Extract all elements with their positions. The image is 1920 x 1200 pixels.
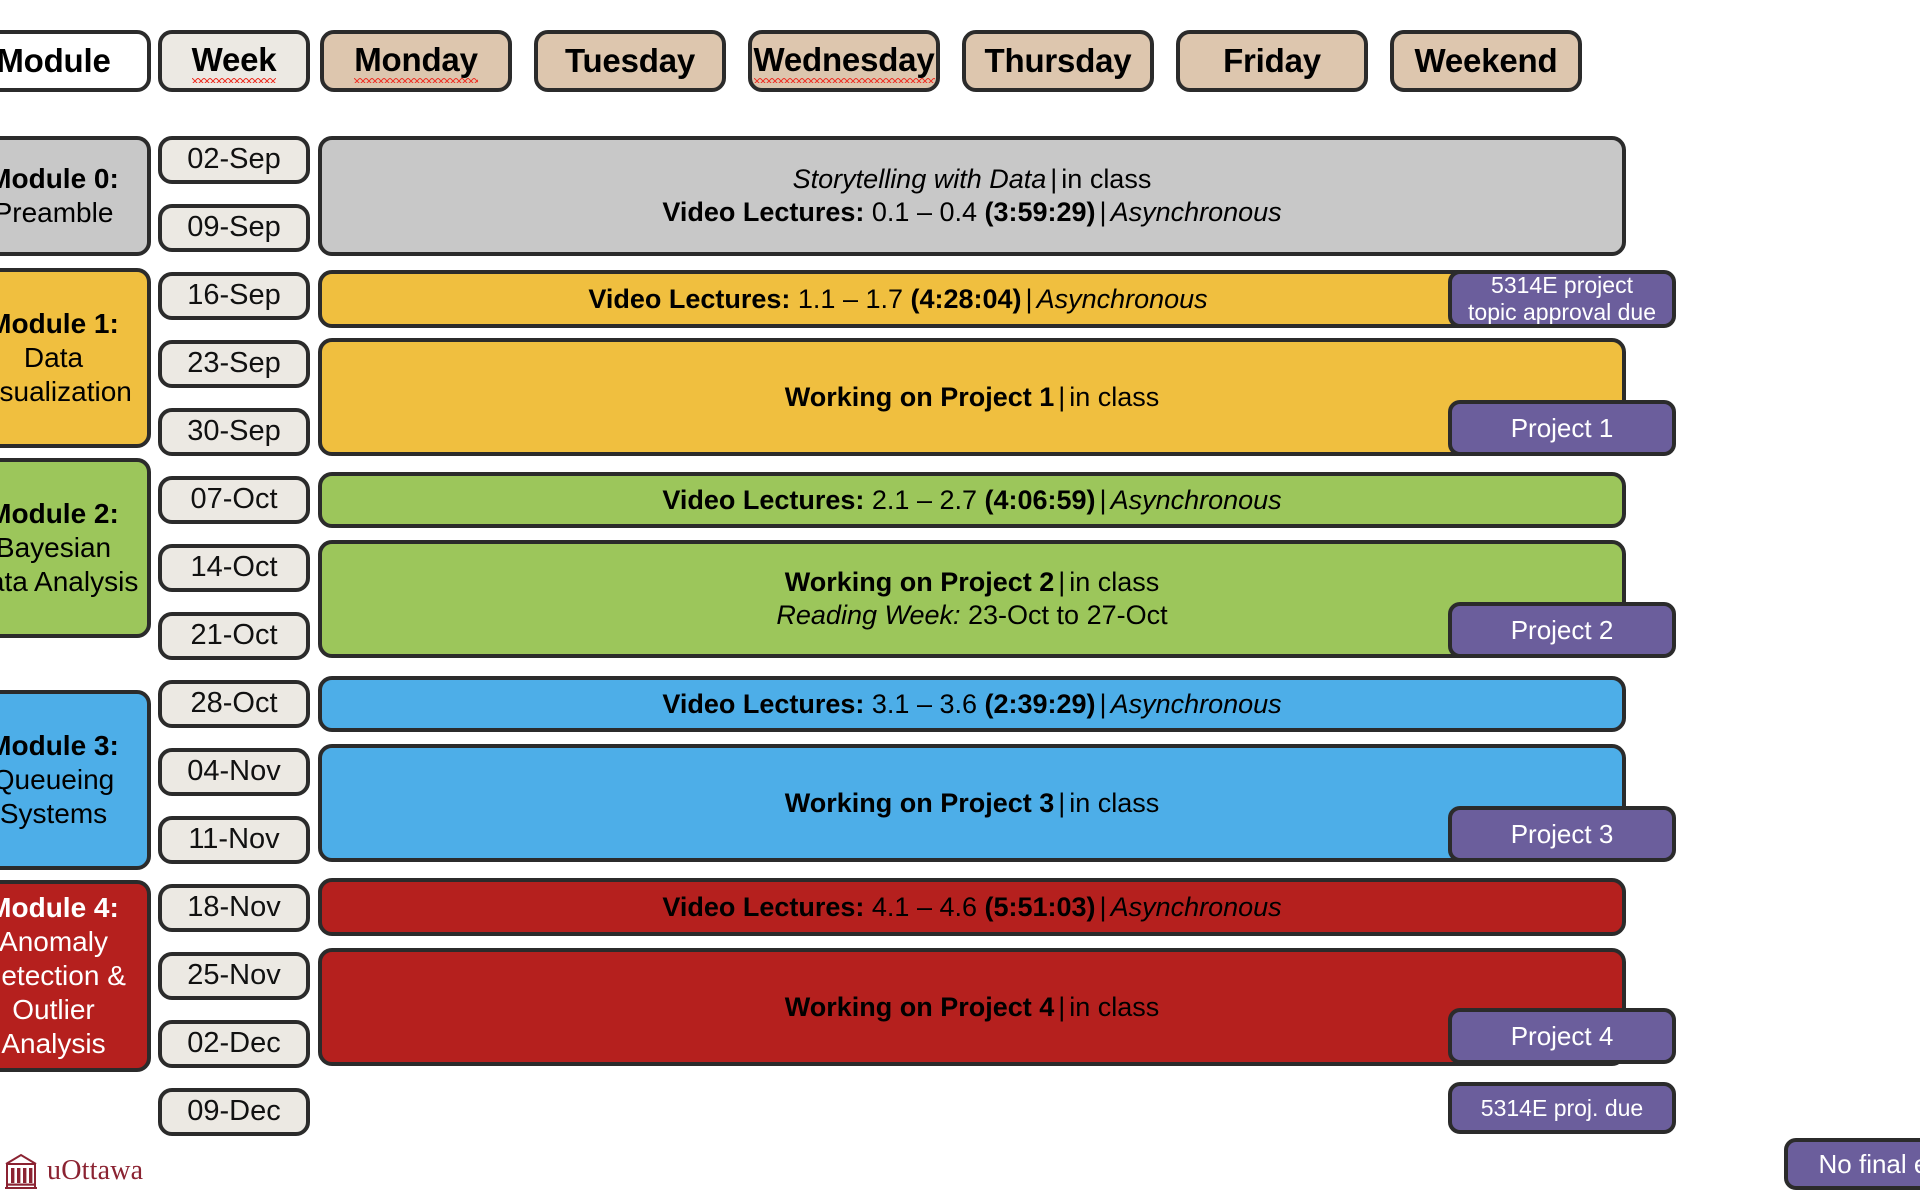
- module-name-line: Bayesian: [0, 531, 111, 565]
- deliverable-badge-project-1[interactable]: Project 1: [1448, 400, 1676, 456]
- activity-text-segment: in class: [1061, 164, 1151, 194]
- activity-text-segment: in class: [1069, 992, 1159, 1022]
- column-header-label: Week: [192, 40, 277, 82]
- activity-line: Working on Project 4|in class: [785, 991, 1160, 1024]
- week-label: 11-Nov: [188, 822, 279, 857]
- module-name-line: Data Analysis: [0, 565, 138, 599]
- week-label: 09-Sep: [187, 210, 281, 245]
- week-cell-25-nov[interactable]: 25-Nov: [158, 952, 310, 1000]
- week-label: 28-Oct: [190, 686, 277, 721]
- deliverable-label: 5314E proj. due: [1481, 1095, 1643, 1122]
- column-header-monday: Monday: [320, 30, 512, 92]
- activity-text-segment: |: [1054, 567, 1069, 597]
- deliverable-label: Project 3: [1511, 819, 1614, 849]
- week-label: 14-Oct: [190, 550, 277, 585]
- module-title: Module 0:: [0, 162, 119, 196]
- activity-bar-m1-project[interactable]: Working on Project 1|in class: [318, 338, 1626, 456]
- activity-text-segment: Reading Week:: [776, 600, 960, 630]
- week-cell-14-oct[interactable]: 14-Oct: [158, 544, 310, 592]
- activity-line: Working on Project 1|in class: [785, 381, 1160, 414]
- activity-text-segment: Video Lectures:: [662, 892, 864, 922]
- activity-text-segment: |: [1054, 382, 1069, 412]
- activity-text-segment: |: [1022, 284, 1037, 314]
- activity-line: Working on Project 2|in class: [785, 566, 1160, 599]
- activity-text-segment: in class: [1069, 567, 1159, 597]
- activity-bar-m0-block[interactable]: Storytelling with Data|in classVideo Lec…: [318, 136, 1626, 256]
- activity-line: Video Lectures: 3.1 – 3.6 (2:39:29)|Asyn…: [662, 688, 1281, 721]
- activity-bar-m4-project[interactable]: Working on Project 4|in class: [318, 948, 1626, 1066]
- activity-text-segment: |: [1096, 892, 1111, 922]
- module-cell-4: Module 4:AnomalyDetection &OutlierAnalys…: [0, 880, 151, 1072]
- week-cell-04-nov[interactable]: 04-Nov: [158, 748, 310, 796]
- activity-text-segment: (4:06:59): [985, 485, 1096, 515]
- module-title: Module 1:: [0, 307, 119, 341]
- module-cell-2: Module 2:BayesianData Analysis: [0, 458, 151, 638]
- module-name-line: Systems: [0, 797, 107, 831]
- deliverable-badge-project-4[interactable]: Project 4: [1448, 1008, 1676, 1064]
- deliverable-label: No final exam: [1819, 1149, 1920, 1179]
- week-label: 02-Dec: [187, 1026, 281, 1061]
- module-cell-0: Module 0:Preamble: [0, 136, 151, 256]
- deliverable-badge-project-2[interactable]: Project 2: [1448, 602, 1676, 658]
- activity-text-segment: |: [1096, 689, 1111, 719]
- activity-line: Storytelling with Data|in class: [793, 163, 1152, 196]
- activity-text-segment: |: [1096, 485, 1111, 515]
- deliverable-badge-topic-approval[interactable]: 5314E projecttopic approval due: [1448, 270, 1676, 328]
- activity-line: Video Lectures: 2.1 – 2.7 (4:06:59)|Asyn…: [662, 484, 1281, 517]
- column-header-thursday: Thursday: [962, 30, 1154, 92]
- activity-text-segment: Asynchronous: [1037, 284, 1208, 314]
- module-cell-3: Module 3:QueueingSystems: [0, 690, 151, 870]
- activity-text-segment: Video Lectures:: [662, 485, 864, 515]
- activity-text-segment: 1.1 – 1.7: [790, 284, 910, 314]
- week-cell-16-sep[interactable]: 16-Sep: [158, 272, 310, 320]
- week-cell-23-sep[interactable]: 23-Sep: [158, 340, 310, 388]
- deliverable-badge-no-final-exam[interactable]: No final exam: [1784, 1138, 1920, 1190]
- module-name-line: Anomaly: [0, 925, 108, 959]
- deliverable-label: Project 4: [1511, 1021, 1614, 1051]
- module-title: Module 4:: [0, 891, 119, 925]
- deliverable-badge-project-3[interactable]: Project 3: [1448, 806, 1676, 862]
- activity-text-segment: Video Lectures:: [662, 689, 864, 719]
- activity-text-segment: Working on Project 2: [785, 567, 1055, 597]
- week-cell-18-nov[interactable]: 18-Nov: [158, 884, 310, 932]
- column-header-label: Wednesday: [754, 40, 935, 82]
- uottawa-logo-text: uOttawa: [47, 1155, 143, 1187]
- schedule-page: ModuleWeekMondayTuesdayWednesdayThursday…: [0, 0, 1920, 1200]
- activity-text-segment: Asynchronous: [1111, 892, 1282, 922]
- week-label: 18-Nov: [187, 890, 281, 925]
- week-label: 25-Nov: [187, 958, 281, 993]
- module-title: Module 3:: [0, 729, 119, 763]
- deliverable-badge-proj-due[interactable]: 5314E proj. due: [1448, 1082, 1676, 1134]
- activity-text-segment: Video Lectures:: [588, 284, 790, 314]
- week-cell-09-sep[interactable]: 09-Sep: [158, 204, 310, 252]
- activity-text-segment: 23-Oct to 27-Oct: [961, 600, 1168, 630]
- week-cell-21-oct[interactable]: 21-Oct: [158, 612, 310, 660]
- column-header-module: Module: [0, 30, 151, 92]
- activity-bar-m2-project[interactable]: Working on Project 2|in classReading Wee…: [318, 540, 1626, 658]
- activity-bar-m2-lectures[interactable]: Video Lectures: 2.1 – 2.7 (4:06:59)|Asyn…: [318, 472, 1626, 528]
- activity-line: Video Lectures: 4.1 – 4.6 (5:51:03)|Asyn…: [662, 891, 1281, 924]
- column-header-week: Week: [158, 30, 310, 92]
- week-cell-30-sep[interactable]: 30-Sep: [158, 408, 310, 456]
- deliverable-label: Project 2: [1511, 615, 1614, 645]
- module-title: Module 2:: [0, 497, 119, 531]
- week-label: 30-Sep: [187, 414, 281, 449]
- activity-bar-m3-project[interactable]: Working on Project 3|in class: [318, 744, 1626, 862]
- week-cell-09-dec[interactable]: 09-Dec: [158, 1088, 310, 1136]
- week-cell-02-sep[interactable]: 02-Sep: [158, 136, 310, 184]
- activity-text-segment: |: [1054, 788, 1069, 818]
- activity-bar-m3-lectures[interactable]: Video Lectures: 3.1 – 3.6 (2:39:29)|Asyn…: [318, 676, 1626, 732]
- column-header-label: Monday: [354, 40, 477, 82]
- activity-bar-m4-lectures[interactable]: Video Lectures: 4.1 – 4.6 (5:51:03)|Asyn…: [318, 878, 1626, 936]
- activity-text-segment: (2:39:29): [985, 689, 1096, 719]
- uottawa-logo: uOttawa: [4, 1152, 143, 1190]
- column-header-tuesday: Tuesday: [534, 30, 726, 92]
- activity-text-segment: 2.1 – 2.7: [864, 485, 984, 515]
- column-header-label: Module: [0, 41, 111, 81]
- activity-text-segment: Asynchronous: [1111, 485, 1282, 515]
- column-header-label: Weekend: [1415, 41, 1558, 81]
- activity-line: Reading Week: 23-Oct to 27-Oct: [776, 599, 1167, 632]
- week-label: 23-Sep: [187, 346, 281, 381]
- activity-bar-m1-lectures[interactable]: Video Lectures: 1.1 – 1.7 (4:28:04)|Asyn…: [318, 270, 1478, 328]
- module-name-line: Queueing: [0, 763, 114, 797]
- activity-text-segment: Storytelling with Data: [793, 164, 1047, 194]
- week-label: 09-Dec: [187, 1094, 281, 1129]
- column-header-label: Tuesday: [565, 41, 695, 81]
- column-header-label: Thursday: [985, 41, 1132, 81]
- activity-text-segment: 3.1 – 3.6: [864, 689, 984, 719]
- module-name-line: Detection &: [0, 959, 126, 993]
- activity-text-segment: in class: [1069, 382, 1159, 412]
- week-label: 07-Oct: [190, 482, 277, 517]
- activity-text-segment: 0.1 – 0.4: [864, 197, 984, 227]
- activity-text-segment: in class: [1069, 788, 1159, 818]
- activity-line: Video Lectures: 1.1 – 1.7 (4:28:04)|Asyn…: [588, 283, 1207, 316]
- university-building-icon: [4, 1152, 38, 1190]
- module-cell-1: Module 1:DataVisualization: [0, 268, 151, 448]
- activity-text-segment: (3:59:29): [985, 197, 1096, 227]
- activity-text-segment: |: [1096, 197, 1111, 227]
- column-header-friday: Friday: [1176, 30, 1368, 92]
- column-header-weekend: Weekend: [1390, 30, 1582, 92]
- week-label: 04-Nov: [187, 754, 281, 789]
- week-label: 16-Sep: [187, 278, 281, 313]
- activity-text-segment: |: [1054, 992, 1069, 1022]
- module-name-line: Preamble: [0, 196, 113, 230]
- activity-text-segment: (4:28:04): [911, 284, 1022, 314]
- week-cell-28-oct[interactable]: 28-Oct: [158, 680, 310, 728]
- week-label: 21-Oct: [190, 618, 277, 653]
- deliverable-label: Project 1: [1511, 413, 1614, 443]
- activity-text-segment: Video Lectures:: [662, 197, 864, 227]
- module-name-line: Analysis: [1, 1027, 105, 1061]
- activity-text-segment: Working on Project 4: [785, 992, 1055, 1022]
- activity-line: Video Lectures: 0.1 – 0.4 (3:59:29)|Asyn…: [662, 196, 1281, 229]
- column-header-label: Friday: [1223, 41, 1321, 81]
- activity-text-segment: 4.1 – 4.6: [864, 892, 984, 922]
- deliverable-label: topic approval due: [1468, 299, 1656, 326]
- module-name-line: Outlier: [12, 993, 94, 1027]
- activity-text-segment: (5:51:03): [985, 892, 1096, 922]
- column-header-wednesday: Wednesday: [748, 30, 940, 92]
- activity-text-segment: Working on Project 3: [785, 788, 1055, 818]
- module-name-line: Visualization: [0, 375, 132, 409]
- activity-text-segment: Asynchronous: [1111, 197, 1282, 227]
- week-cell-02-dec[interactable]: 02-Dec: [158, 1020, 310, 1068]
- week-cell-07-oct[interactable]: 07-Oct: [158, 476, 310, 524]
- module-name-line: Data: [24, 341, 83, 375]
- activity-line: Working on Project 3|in class: [785, 787, 1160, 820]
- deliverable-label: 5314E project: [1491, 272, 1633, 299]
- week-label: 02-Sep: [187, 142, 281, 177]
- week-cell-11-nov[interactable]: 11-Nov: [158, 816, 310, 864]
- activity-text-segment: Asynchronous: [1111, 689, 1282, 719]
- activity-text-segment: Working on Project 1: [785, 382, 1055, 412]
- activity-text-segment: |: [1046, 164, 1061, 194]
